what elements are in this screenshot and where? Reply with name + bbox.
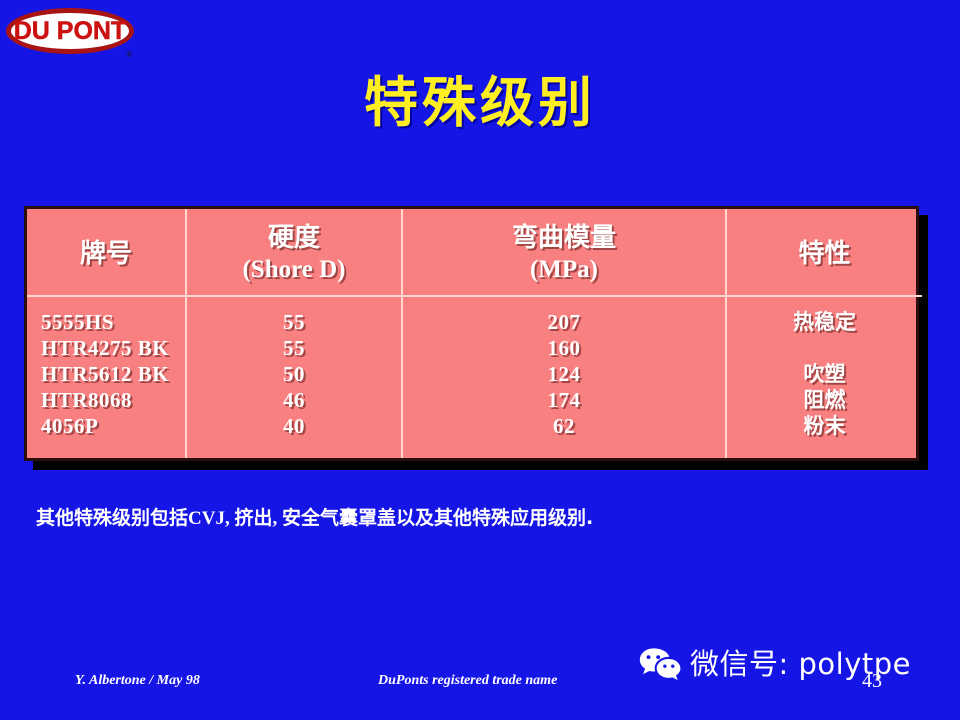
grade-value: HTR8068 [41, 387, 185, 413]
header-modulus-cn: 弯曲模量 [403, 223, 725, 254]
property-value: 粉末 [727, 413, 922, 439]
logo-wordmark: DU PONT [6, 13, 134, 49]
header-cell-hardness: 硬度 (Shore D) [187, 209, 401, 295]
grade-value: HTR4275 BK [41, 335, 185, 361]
table-grid: 牌号 硬度 (Shore D) 弯曲模量 (MPa) 特性 [27, 209, 922, 458]
modulus-value: 207 [403, 309, 725, 335]
header-property-cn: 特性 [798, 239, 850, 269]
specialty-grades-table: 牌号 硬度 (Shore D) 弯曲模量 (MPa) 特性 [24, 206, 919, 461]
hardness-value: 40 [187, 413, 401, 439]
property-value: 热稳定 [727, 309, 922, 335]
cell-grade-list: 5555HS HTR4275 BK HTR5612 BK HTR8068 405… [27, 297, 185, 458]
header-cell-property: 特性 [727, 209, 922, 295]
page-title: 特殊级别 [0, 58, 960, 137]
modulus-value: 62 [403, 413, 725, 439]
property-value: 阻燃 [727, 387, 922, 413]
modulus-value: 174 [403, 387, 725, 413]
hardness-value: 50 [187, 361, 401, 387]
hardness-value: 46 [187, 387, 401, 413]
cell-hardness-list: 55 55 50 46 40 [187, 297, 401, 458]
wechat-watermark-text: 微信号: polytpe [690, 647, 911, 681]
hardness-value: 55 [187, 309, 401, 335]
wechat-watermark: 微信号: polytpe [638, 645, 911, 683]
cell-property-list: 热稳定 吹塑 阻燃 粉末 [727, 297, 922, 458]
grade-value: 4056P [41, 413, 185, 439]
caption-part-1: 其他特殊级别包括 [36, 507, 188, 529]
header-hardness-cn: 硬度 [187, 223, 401, 254]
wechat-icon [638, 645, 682, 683]
modulus-value: 124 [403, 361, 725, 387]
modulus-value: 160 [403, 335, 725, 361]
caption-part-3: 罩盖以及其他特殊 [358, 507, 510, 529]
header-cell-modulus: 弯曲模量 (MPa) [403, 209, 725, 295]
header-modulus-en: (MPa) [403, 254, 725, 285]
table-body-row: 5555HS HTR4275 BK HTR5612 BK HTR8068 405… [27, 297, 922, 458]
table-header-row: 牌号 硬度 (Shore D) 弯曲模量 (MPa) 特性 [27, 209, 922, 295]
caption-text: 其他特殊级别包括CVJ, 挤出, 安全气囊罩盖以及其他特殊应用级别. [36, 503, 593, 530]
footer-author: Y. Albertone / May 98 [75, 673, 200, 689]
dupont-logo: DU PONT ® [6, 8, 134, 60]
caption-part-2: CVJ, 挤出, 安全气囊 [188, 508, 358, 529]
grade-value: HTR5612 BK [41, 361, 185, 387]
grade-value: 5555HS [41, 309, 185, 335]
header-cell-grade: 牌号 [27, 209, 185, 295]
header-grade-cn: 牌号 [80, 239, 132, 269]
header-hardness-en: (Shore D) [187, 254, 401, 285]
property-value: 吹塑 [727, 361, 922, 387]
hardness-value: 55 [187, 335, 401, 361]
footer-trade-name: DuPonts registered trade name [378, 673, 557, 689]
caption-part-4: 应用级别. [510, 507, 593, 529]
slide-canvas: DU PONT ® 特殊级别 牌号 硬度 (Shore D) [0, 0, 960, 720]
cell-modulus-list: 207 160 124 174 62 [403, 297, 725, 458]
